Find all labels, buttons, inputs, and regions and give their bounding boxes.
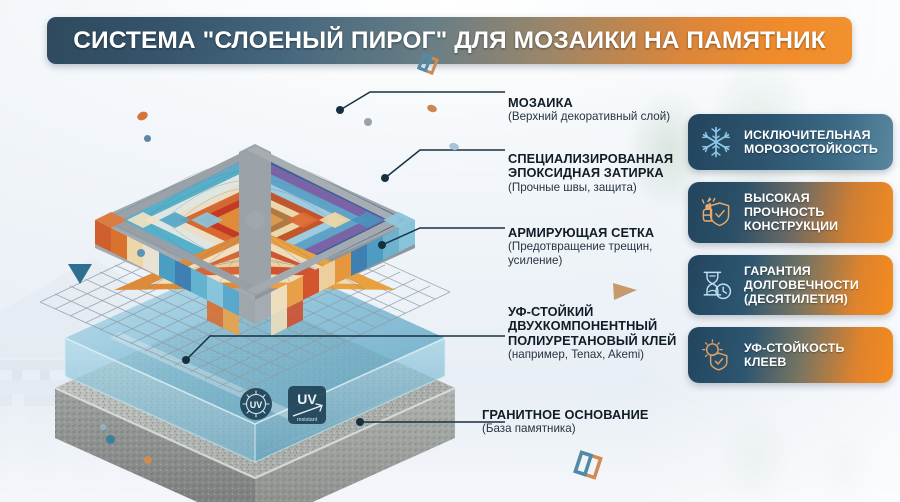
page-title: СИСТЕМА "СЛОЕНЫЙ ПИРОГ" ДЛЯ МОЗАИКИ НА П… xyxy=(73,27,826,55)
decor-dot-gray-1 xyxy=(364,118,372,126)
uv-round-badge: UV xyxy=(240,388,272,420)
sun-shield-icon xyxy=(697,336,735,374)
page-title-banner: СИСТЕМА "СЛОЕНЫЙ ПИРОГ" ДЛЯ МОЗАИКИ НА П… xyxy=(47,17,852,64)
callout-reinforcing-mesh-subtitle-line1: (Предотвращение трещин, xyxy=(508,240,654,254)
callout-reinforcing-mesh: АРМИРУЮЩАЯ СЕТКА (Предотвращение трещин,… xyxy=(508,226,654,268)
svg-text:UV: UV xyxy=(250,400,263,410)
feature-label-line2: ПРОЧНОСТЬ xyxy=(744,205,838,219)
decor-dot-blue-1 xyxy=(144,135,151,142)
feature-label-line2: КЛЕЕВ xyxy=(744,355,845,369)
callout-mosaic-title: МОЗАИКА xyxy=(508,96,670,110)
callout-uv-adhesive-title-line3: ПОЛИУРЕТАНОВЫЙ КЛЕЙ xyxy=(508,334,676,348)
feature-card-high-strength[interactable]: ВЫСОКАЯ ПРОЧНОСТЬ КОНСТРУКЦИИ xyxy=(688,182,893,243)
svg-text:UV: UV xyxy=(297,391,317,407)
fist-shield-icon xyxy=(697,193,735,231)
feature-label-line1: УФ-СТОЙКОСТЬ xyxy=(744,341,845,355)
decor-dot-blue-3 xyxy=(137,249,145,257)
svg-text:resistant: resistant xyxy=(297,417,318,423)
callout-reinforcing-mesh-title: АРМИРУЮЩАЯ СЕТКА xyxy=(508,226,654,240)
callout-epoxy-grout: СПЕЦИАЛИЗИРОВАННАЯ ЭПОКСИДНАЯ ЗАТИРКА (П… xyxy=(508,152,673,194)
decor-dot-blue-4 xyxy=(106,435,115,444)
callout-epoxy-grout-title-line2: ЭПОКСИДНАЯ ЗАТИРКА xyxy=(508,166,673,180)
callout-uv-adhesive-subtitle: (например, Tenax, Akemi) xyxy=(508,348,676,362)
feature-card-high-strength-label: ВЫСОКАЯ ПРОЧНОСТЬ КОНСТРУКЦИИ xyxy=(744,191,838,234)
feature-card-list: ИСКЛЮЧИТЕЛЬНАЯ МОРОЗОСТОЙКОСТЬ xyxy=(688,114,893,395)
feature-card-uv-resistance[interactable]: УФ-СТОЙКОСТЬ КЛЕЕВ xyxy=(688,327,893,383)
feature-card-durability-guarantee[interactable]: ГАРАНТИЯ ДОЛГОВЕЧНОСТИ (ДЕСЯТИЛЕТИЯ) xyxy=(688,255,893,316)
infographic-canvas: СИСТЕМА "СЛОЕНЫЙ ПИРОГ" ДЛЯ МОЗАИКИ НА П… xyxy=(0,0,900,502)
hourglass-clock-icon xyxy=(697,266,735,304)
feature-label-line1: ИСКЛЮЧИТЕЛЬНАЯ xyxy=(744,128,878,142)
snowflake-icon xyxy=(697,123,735,161)
callout-uv-adhesive: УФ-СТОЙКИЙ ДВУХКОМПОНЕНТНЫЙ ПОЛИУРЕТАНОВ… xyxy=(508,305,676,362)
callout-uv-adhesive-title-line2: ДВУХКОМПОНЕНТНЫЙ xyxy=(508,319,676,333)
callout-reinforcing-mesh-subtitle-line2: усиление) xyxy=(508,254,654,268)
feature-card-uv-resistance-label: УФ-СТОЙКОСТЬ КЛЕЕВ xyxy=(744,341,845,369)
callout-mosaic-subtitle: (Верхний декоративный слой) xyxy=(508,110,670,124)
callout-epoxy-grout-subtitle: (Прочные швы, защита) xyxy=(508,181,673,195)
uv-square-badge: UV resistant xyxy=(288,386,326,424)
feature-label-line3: КОНСТРУКЦИИ xyxy=(744,219,838,233)
feature-label-line2: МОРОЗОСТОЙКОСТЬ xyxy=(744,142,878,156)
feature-label-line3: (ДЕСЯТИЛЕТИЯ) xyxy=(744,292,859,306)
callout-granite-base: ГРАНИТНОЕ ОСНОВАНИЕ (База памятника) xyxy=(482,408,649,436)
feature-card-durability-guarantee-label: ГАРАНТИЯ ДОЛГОВЕЧНОСТИ (ДЕСЯТИЛЕТИЯ) xyxy=(744,264,859,307)
feature-label-line2: ДОЛГОВЕЧНОСТИ xyxy=(744,278,859,292)
feature-label-line1: ВЫСОКАЯ xyxy=(744,191,838,205)
callout-mosaic: МОЗАИКА (Верхний декоративный слой) xyxy=(508,96,670,124)
decor-dot-orange-3 xyxy=(144,456,152,464)
callout-epoxy-grout-title-line1: СПЕЦИАЛИЗИРОВАННАЯ xyxy=(508,152,673,166)
feature-card-frost-resistance[interactable]: ИСКЛЮЧИТЕЛЬНАЯ МОРОЗОСТОЙКОСТЬ xyxy=(688,114,893,170)
callout-granite-base-title: ГРАНИТНОЕ ОСНОВАНИЕ xyxy=(482,408,649,422)
callout-uv-adhesive-title-line1: УФ-СТОЙКИЙ xyxy=(508,305,676,319)
callout-granite-base-subtitle: (База памятника) xyxy=(482,422,649,436)
decor-dot-blue-5 xyxy=(100,424,106,430)
layered-cake-illustration: UV UV resistant xyxy=(0,70,510,502)
feature-card-frost-resistance-label: ИСКЛЮЧИТЕЛЬНАЯ МОРОЗОСТОЙКОСТЬ xyxy=(744,128,878,156)
feature-label-line1: ГАРАНТИЯ xyxy=(744,264,859,278)
